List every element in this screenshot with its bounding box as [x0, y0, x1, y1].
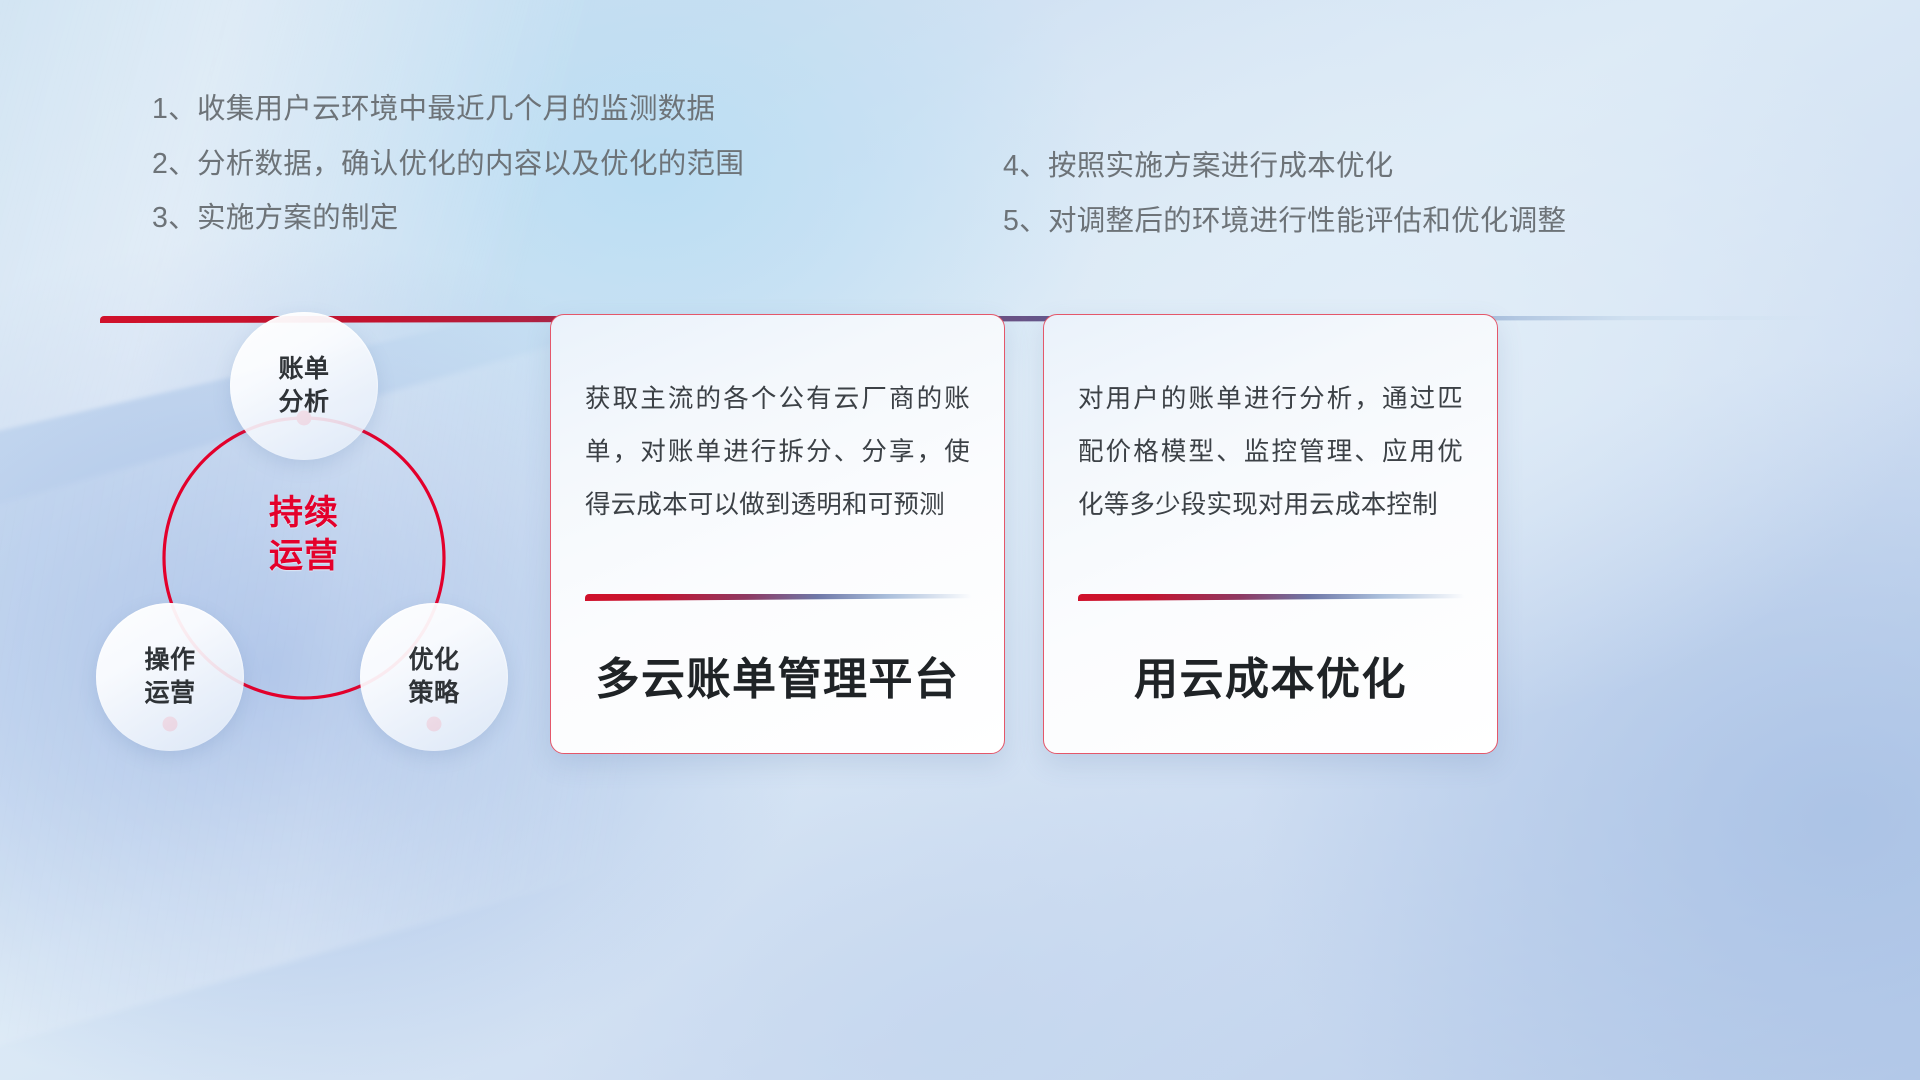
venn-bubble-top-label: 账单分析 [278, 353, 329, 419]
feature-card-multicloud-billing[interactable]: 获取主流的各个公有云厂商的账单，对账单进行拆分、分享，使得云成本可以做到透明和可… [550, 314, 1005, 754]
venn-bubble-operations[interactable]: 操作运营 [96, 603, 244, 751]
step-item-4: 4、按照实施方案进行成本优化 [1003, 152, 1566, 181]
slide-canvas: 1、收集用户云环境中最近几个月的监测数据 2、分析数据，确认优化的内容以及优化的… [0, 0, 1920, 1080]
card-title: 用云成本优化 [1044, 643, 1497, 707]
venn-center-label: 持续运营 [269, 492, 339, 578]
card-title: 多云账单管理平台 [551, 643, 1004, 707]
step-item-5: 5、对调整后的环境进行性能评估和优化调整 [1003, 207, 1566, 236]
card-divider [1078, 594, 1465, 601]
steps-left-column: 1、收集用户云环境中最近几个月的监测数据 2、分析数据，确认优化的内容以及优化的… [152, 95, 744, 233]
venn-bubble-bottom-left-label: 操作运营 [144, 644, 195, 710]
venn-bubble-bottom-right-label: 优化策略 [408, 644, 459, 710]
step-item-2: 2、分析数据，确认优化的内容以及优化的范围 [152, 150, 744, 179]
venn-diagram: 账单分析 操作运营 优化策略 持续运营 [88, 290, 558, 790]
feature-card-cloud-cost-optimization[interactable]: 对用户的账单进行分析，通过匹配价格模型、监控管理、应用优化等多少段实现对用云成本… [1043, 314, 1498, 754]
card-body-text: 对用户的账单进行分析，通过匹配价格模型、监控管理、应用优化等多少段实现对用云成本… [1078, 373, 1463, 532]
venn-bubble-optimization-strategy[interactable]: 优化策略 [360, 603, 508, 751]
steps-right-column: 4、按照实施方案进行成本优化 5、对调整后的环境进行性能评估和优化调整 [1003, 152, 1566, 235]
card-body-text: 获取主流的各个公有云厂商的账单，对账单进行拆分、分享，使得云成本可以做到透明和可… [585, 373, 970, 532]
venn-bubble-billing-analysis[interactable]: 账单分析 [230, 312, 378, 460]
step-item-3: 3、实施方案的制定 [152, 204, 744, 233]
venn-center-label-wrap: 持续运营 [218, 480, 390, 590]
card-divider [585, 594, 972, 601]
step-item-1: 1、收集用户云环境中最近几个月的监测数据 [152, 95, 744, 124]
